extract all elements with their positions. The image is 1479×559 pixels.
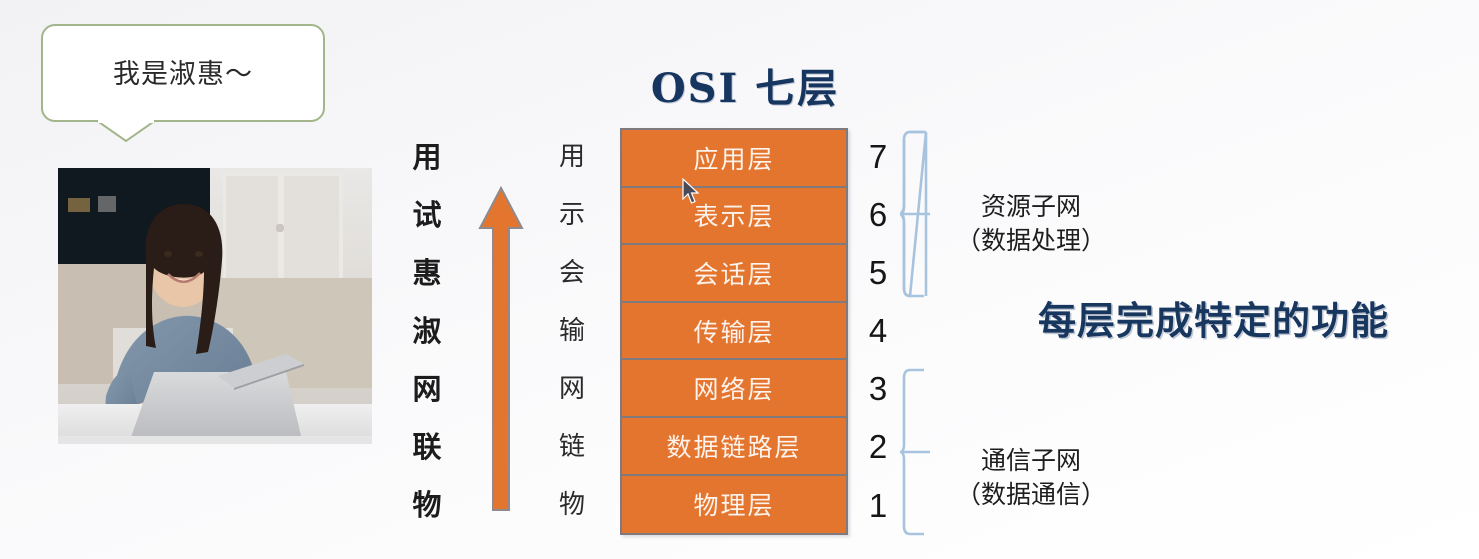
layer-number: 5 [858, 244, 898, 302]
speech-bubble: 我是淑惠～ [41, 24, 325, 122]
group-label-resource-subnet: 资源子网 （数据处理） [956, 190, 1106, 258]
layer-number: 1 [858, 477, 898, 535]
group-label-detail: （数据通信） [956, 478, 1106, 512]
upward-arrow-icon [478, 186, 524, 512]
bracket-resource-subnet [900, 130, 952, 298]
mnemonic-right-char: 示 [559, 186, 585, 244]
mnemonic-right-char: 链 [559, 418, 585, 476]
group-label-detail: （数据处理） [956, 224, 1106, 258]
layer-number: 7 [858, 128, 898, 186]
photo-woman-at-laptop [58, 168, 372, 444]
layer-box[interactable]: 物理层 [622, 476, 846, 534]
mnemonic-left-char: 惠 [412, 244, 441, 302]
layer-box[interactable]: 数据链路层 [622, 418, 846, 476]
speech-bubble-tail [96, 120, 156, 142]
mnemonic-right-char: 物 [559, 476, 585, 534]
layer-number-column: 7 6 5 4 3 2 1 [858, 128, 898, 535]
mnemonic-left-char: 淑 [412, 302, 441, 360]
layer-number: 6 [858, 186, 898, 244]
layer-box[interactable]: 表示层 [622, 188, 846, 246]
layer-number: 3 [858, 360, 898, 418]
layer-box[interactable]: 传输层 [622, 303, 846, 361]
mnemonic-left-char: 物 [412, 476, 441, 534]
speech-bubble-text: 我是淑惠～ [43, 26, 323, 120]
group-label-name: 资源子网 [956, 190, 1106, 224]
mnemonic-right-char: 输 [559, 302, 585, 360]
layer-box[interactable]: 应用层 [622, 130, 846, 188]
slide-canvas: 我是淑惠～ [0, 0, 1479, 559]
mnemonic-right-char: 用 [559, 128, 585, 186]
mnemonic-left-char: 联 [412, 418, 441, 476]
osi-layer-stack: 应用层 表示层 会话层 传输层 网络层 数据链路层 物理层 [620, 128, 848, 535]
layer-number: 4 [858, 302, 898, 360]
group-label-communication-subnet: 通信子网 （数据通信） [956, 444, 1106, 512]
mnemonic-left-char: 网 [412, 360, 441, 418]
group-label-name: 通信子网 [956, 444, 1106, 478]
layer-box[interactable]: 会话层 [622, 245, 846, 303]
headline-text: 每层完成特定的功能 [1038, 290, 1389, 345]
page-title: OSI 七层 [560, 56, 930, 114]
mnemonic-left-char: 用 [412, 128, 441, 186]
mnemonic-column-left: 用 试 惠 淑 网 联 物 [400, 128, 454, 532]
mnemonic-right-char: 网 [559, 360, 585, 418]
layer-box[interactable]: 网络层 [622, 360, 846, 418]
mnemonic-column-right: 用 示 会 输 网 链 物 [545, 128, 599, 532]
mnemonic-right-char: 会 [559, 244, 585, 302]
mnemonic-left-char: 试 [412, 186, 441, 244]
bracket-communication-subnet [900, 368, 952, 536]
layer-number: 2 [858, 418, 898, 476]
